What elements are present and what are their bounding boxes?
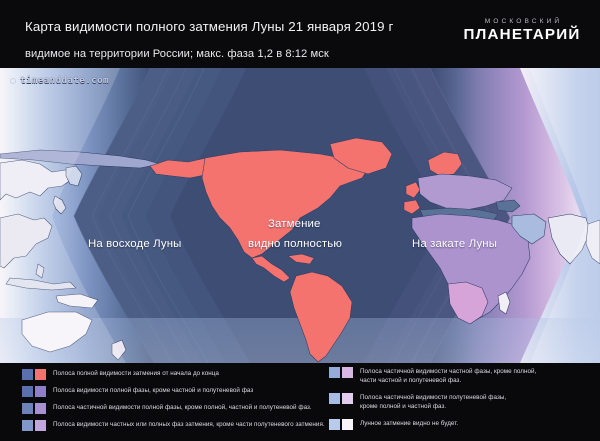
copyright-icon [10,78,16,84]
legend-swatch-secondary [342,393,353,404]
legend-swatch-primary [329,419,340,430]
timeanddate-watermark: timeanddate.com [10,75,109,86]
map-svg [0,68,600,363]
legend-item: Полоса частичной видимости частной фазы,… [329,367,536,385]
legend-swatch-primary [329,393,340,404]
legend-label: Полоса видимости полной фазы, кроме част… [53,386,253,396]
legend-item: Полоса видимости частных или полных фаз … [22,420,325,431]
legend-label: Полоса частичной видимости полной фазы, … [53,403,312,413]
legend-item: Полоса видимости полной фазы, кроме част… [22,386,253,397]
header-bar: Карта видимости полного затмения Луны 21… [0,0,600,68]
eclipse-visibility-infographic: Карта видимости полного затмения Луны 21… [0,0,600,441]
legend-swatch-primary [22,386,33,397]
legend-swatch-primary [22,369,33,380]
legend-label: Полоса видимости частных или полных фаз … [53,420,325,430]
planetarium-logo: МОСКОВСКИЙ ПЛАНЕТАРИЙ [452,18,592,43]
legend-swatch-secondary [342,367,353,378]
page-title: Карта видимости полного затмения Луны 21… [25,19,393,34]
legend-item: Лунное затмение видно не будет. [329,419,458,430]
legend-label: Полоса полной видимости затмения от нача… [53,369,219,379]
legend-label: Полоса частичной видимости частной фазы,… [360,367,536,385]
map-label-total-line2: видно полностью [248,238,342,250]
legend-swatch-primary [22,403,33,414]
legend-swatch-secondary [35,386,46,397]
watermark-text: timeanddate.com [20,75,109,86]
legend-swatch-primary [329,367,340,378]
legend-label: Полоса частичной видимости полутеневой ф… [360,393,506,411]
page-subtitle: видимое на территории России; макс. фаза… [25,48,329,60]
legend-swatch-primary [22,420,33,431]
legend-item: Полоса полной видимости затмения от нача… [22,369,219,380]
brand-line-top: МОСКОВСКИЙ [452,18,592,25]
legend-item: Полоса частичной видимости полутеневой ф… [329,393,506,411]
brand-line-main: ПЛАНЕТАРИЙ [452,26,592,43]
legend-label: Лунное затмение видно не будет. [360,419,458,429]
legend-swatch-secondary [35,369,46,380]
legend-item: Полоса частичной видимости полной фазы, … [22,403,312,414]
map-label-total-line1: Затмение [268,218,321,230]
map-label-moonrise: На восходе Луны [88,238,182,250]
map-label-moonset: На закате Луны [412,238,497,250]
world-eclipse-map: timeanddate.com На восходе Луны Затмение… [0,68,600,363]
legend-swatch-secondary [35,403,46,414]
legend: Полоса полной видимости затмения от нача… [0,363,600,441]
legend-swatch-secondary [35,420,46,431]
legend-swatch-secondary [342,419,353,430]
